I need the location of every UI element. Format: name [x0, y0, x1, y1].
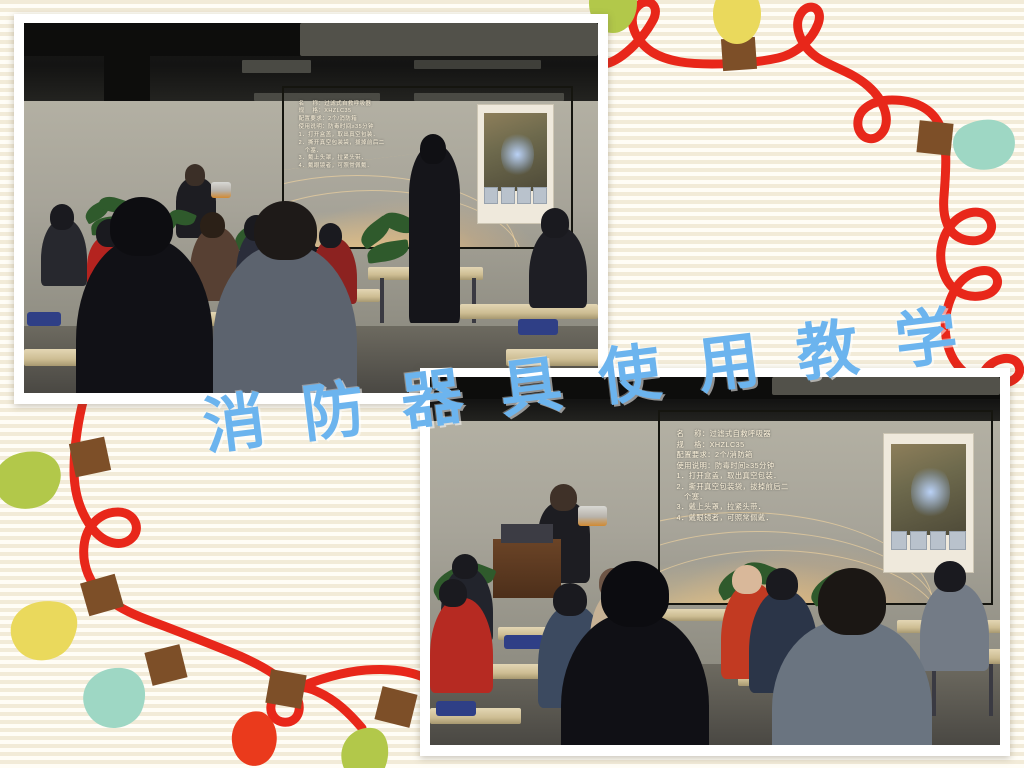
slide-device-flash: [911, 464, 950, 519]
chair: [436, 701, 476, 716]
ceiling-duct: [104, 53, 150, 105]
slide-text-block: 名 称：过滤式自救呼吸器 规 格：XHZLC35 配置要求：2个/消防箱 使用说…: [677, 429, 789, 523]
slide-icon-3: [930, 531, 947, 550]
photo-classroom-wide[interactable]: 名 称：过滤式自救呼吸器 规 格：XHZLC35 配置要求：2个/消防箱 使用说…: [14, 14, 608, 404]
chair: [518, 319, 558, 335]
presenter-head: [550, 484, 577, 512]
attendee-front-gray-head: [818, 568, 886, 634]
slide-device-icon-row: [891, 531, 966, 550]
slide-device-flash: [501, 131, 534, 178]
classroom-scene-close: 名 称：过滤式自救呼吸器 规 格：XHZLC35 配置要求：2个/消防箱 使用说…: [430, 377, 1000, 745]
attendee-front-dark-head: [110, 197, 173, 256]
presenter-head: [185, 164, 206, 186]
chair: [504, 635, 544, 650]
chair: [27, 312, 61, 327]
slide-device-icon-row: [484, 187, 547, 203]
desk-leg: [932, 664, 937, 716]
slide-icon-1: [891, 531, 908, 550]
attendee-head: [319, 223, 342, 248]
slide-icon-4: [533, 187, 547, 203]
slide-icon-3: [517, 187, 531, 203]
ceiling-light-strip: [414, 60, 540, 69]
slide-icon-1: [484, 187, 498, 203]
attendee-red-coat: [430, 598, 493, 694]
attendee-right: [529, 227, 586, 308]
attendee-standing-head: [420, 134, 446, 164]
attendee-standing: [409, 145, 461, 323]
podium-monitor: [501, 524, 552, 542]
attendee-head: [439, 579, 468, 607]
attendee-head: [732, 565, 762, 594]
podium: [493, 539, 561, 598]
ceiling-light-panel: [300, 23, 598, 56]
attendee-front-gray-head: [254, 201, 317, 260]
demo-equipment: [211, 182, 232, 198]
ceiling-light-panel: [772, 377, 1000, 395]
attendee-head: [934, 561, 966, 592]
classroom-scene-wide: 名 称：过滤式自救呼吸器 规 格：XHZLC35 配置要求：2个/消防箱 使用说…: [24, 23, 598, 393]
attendee-head: [766, 568, 798, 600]
slide-text-block: 名 称：过滤式自救呼吸器 规 格：XHZLC35 配置要求：2个/消防箱 使用说…: [299, 101, 385, 171]
desk-leg: [989, 664, 994, 716]
slide-icon-2: [910, 531, 927, 550]
slide-icon-2: [501, 187, 515, 203]
desk-row-front-right: [506, 349, 598, 366]
attendee-head: [541, 208, 570, 238]
collage-canvas: 名 称：过滤式自救呼吸器 规 格：XHZLC35 配置要求：2个/消防箱 使用说…: [0, 0, 1024, 768]
desk-leg: [380, 278, 384, 322]
slide-icon-4: [949, 531, 966, 550]
slide-device-image: [477, 104, 554, 224]
attendee-head: [200, 212, 225, 239]
demo-equipment: [578, 506, 607, 526]
attendee-front-dark-head: [601, 561, 669, 627]
attendee-head: [452, 554, 478, 580]
attendee-head: [553, 583, 587, 616]
attendee-gray-right: [920, 583, 988, 671]
slide-device-image: [883, 433, 974, 573]
attendee-head: [50, 204, 74, 230]
ceiling-vent: [242, 60, 311, 73]
photo-classroom-close[interactable]: 名 称：过滤式自救呼吸器 规 格：XHZLC35 配置要求：2个/消防箱 使用说…: [420, 368, 1010, 756]
